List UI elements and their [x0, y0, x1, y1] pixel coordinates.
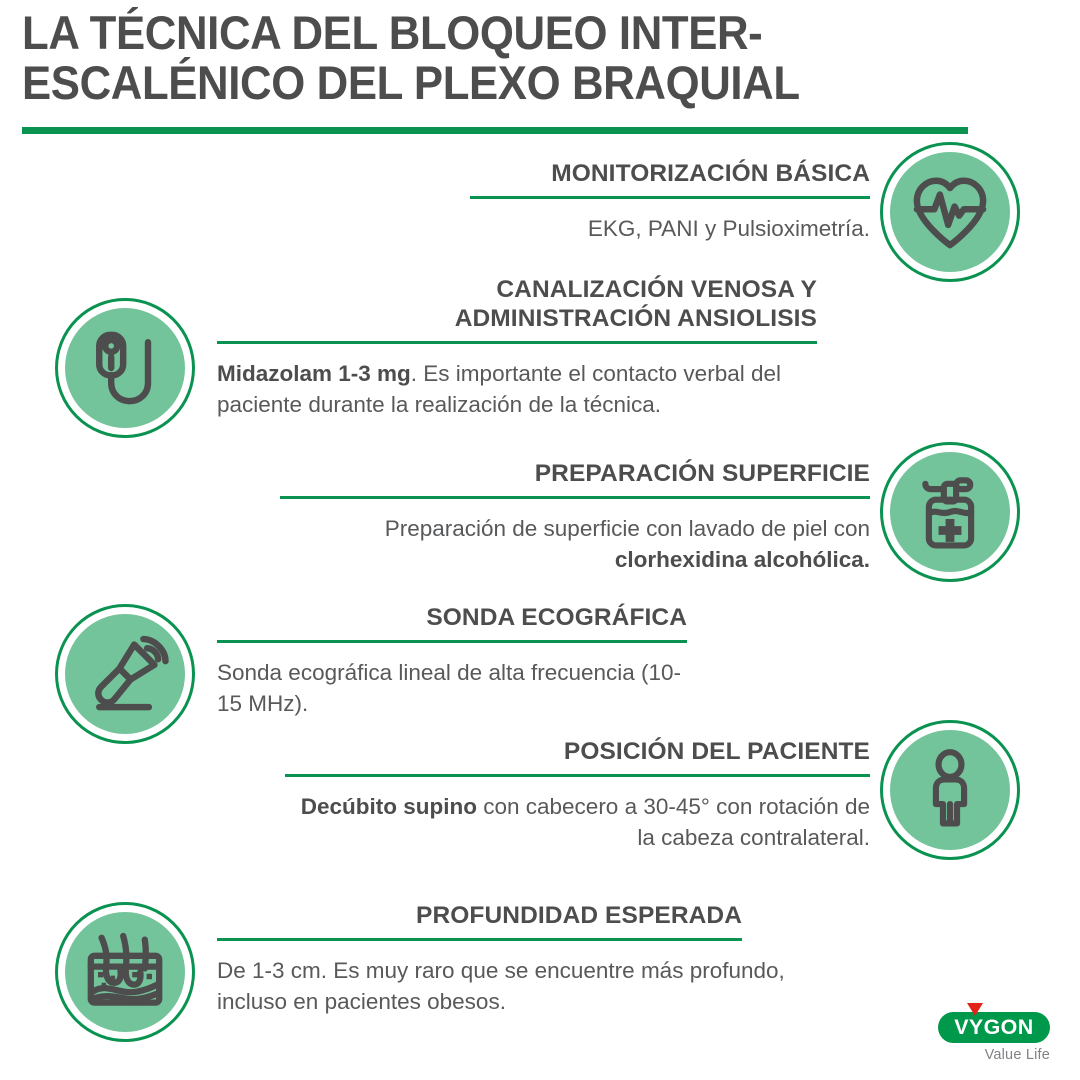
block-posicion-paciente: POSICIÓN DEL PACIENTE Decúbito supino co… [285, 738, 1060, 860]
heading-rule [217, 341, 817, 345]
block-profundidad-esperada: PROFUNDIDAD ESPERADA De 1-3 cm. Es muy r… [55, 902, 795, 1042]
block-body: Sonda ecográfica lineal de alta frecuenc… [217, 657, 687, 719]
logo-pill: VYGON [938, 1012, 1050, 1043]
block-body: Midazolam 1-3 mg. Es importante el conta… [217, 358, 817, 420]
stethoscope-icon-glyph [79, 322, 171, 414]
block-body: Decúbito supino con cabecero a 30-45° co… [285, 791, 870, 853]
vygon-logo: VYGON Value Life [938, 1012, 1056, 1063]
ultrasound-probe-icon [55, 604, 195, 744]
heading-rule [217, 938, 742, 942]
heading-rule [470, 196, 870, 200]
heading-rule [217, 640, 687, 644]
logo-brand-text: VYGON [954, 1016, 1033, 1040]
block-heading: SONDA ECOGRÁFICA [217, 604, 687, 633]
stethoscope-icon [55, 298, 195, 438]
block-sonda-ecografica: SONDA ECOGRÁFICA Sonda ecográfica lineal… [55, 604, 755, 744]
heartbeat-icon-glyph [904, 166, 996, 258]
block-monitorizacion-basica: MONITORIZACIÓN BÁSICA EKG, PANI y Pulsio… [470, 160, 1060, 282]
title-underline-rule [22, 127, 968, 134]
heading-rule [285, 774, 870, 778]
sanitizer-bottle-icon [880, 442, 1020, 582]
block-heading: PREPARACIÓN SUPERFICIE [280, 460, 870, 489]
ultrasound-probe-icon-glyph [79, 628, 171, 720]
heartbeat-icon [880, 142, 1020, 282]
block-body: Preparación de superficie con lavado de … [280, 513, 870, 575]
page-title-text: LA TÉCNICA DEL BLOQUEO INTER- ESCALÉNICO… [22, 8, 933, 109]
block-preparacion-superficie: PREPARACIÓN SUPERFICIE Preparación de su… [280, 460, 1060, 582]
block-body: De 1-3 cm. Es muy raro que se encuentre … [217, 955, 837, 1017]
block-heading: PROFUNDIDAD ESPERADA [217, 902, 742, 931]
skin-layers-icon [55, 902, 195, 1042]
block-heading: POSICIÓN DEL PACIENTE [285, 738, 870, 767]
page-title: LA TÉCNICA DEL BLOQUEO INTER- ESCALÉNICO… [22, 8, 1002, 109]
heading-rule [280, 496, 870, 500]
skin-layers-icon-glyph [80, 927, 170, 1017]
logo-triangle-icon [967, 1003, 983, 1016]
block-heading: MONITORIZACIÓN BÁSICA [470, 160, 870, 189]
standing-person-icon [880, 720, 1020, 860]
sanitizer-bottle-icon-glyph [906, 468, 994, 556]
logo-tagline: Value Life [938, 1047, 1050, 1063]
infographic-page: LA TÉCNICA DEL BLOQUEO INTER- ESCALÉNICO… [0, 0, 1080, 1080]
block-heading: CANALIZACIÓN VENOSA Y ADMINISTRACIÓN ANS… [217, 276, 817, 334]
standing-person-icon-glyph [906, 746, 994, 834]
block-body: EKG, PANI y Pulsioximetría. [470, 213, 870, 244]
block-canalizacion-venosa: CANALIZACIÓN VENOSA Y ADMINISTRACIÓN ANS… [55, 276, 855, 438]
